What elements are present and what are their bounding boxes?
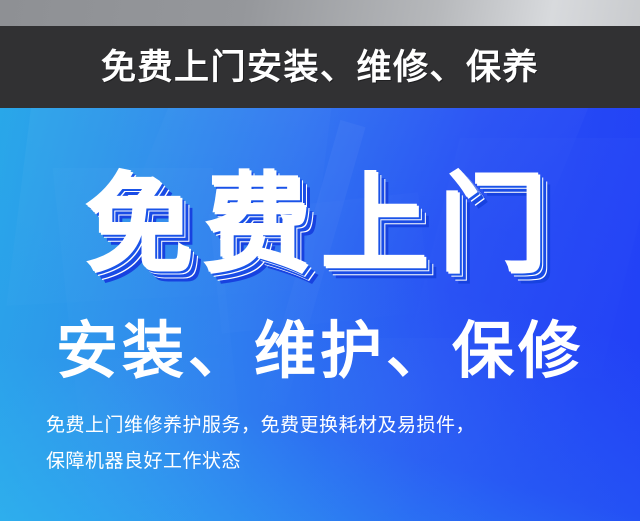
hero-section: 免费上门 安装、维护、保修 免费上门维修养护服务，免费更换耗材及易损件， 保障机…: [0, 108, 640, 521]
promo-banner: 免费上门安装、维修、保养 免费上门 安装、维护、保修 免费上门维修养护服务，免费…: [0, 0, 640, 521]
top-grey-strip: [0, 0, 640, 26]
hero-text-group: 免费上门 安装、维护、保修 免费上门维修养护服务，免费更换耗材及易损件， 保障机…: [0, 108, 640, 521]
hero-headline: 免费上门: [0, 170, 640, 278]
header-title: 免费上门安装、维修、保养: [101, 50, 539, 85]
hero-description-line-1: 免费上门维修养护服务，免费更换耗材及易损件，: [46, 408, 475, 444]
hero-description-line-2: 保障机器良好工作状态: [46, 444, 475, 480]
hero-description: 免费上门维修养护服务，免费更换耗材及易损件， 保障机器良好工作状态: [46, 408, 475, 480]
hero-subheadline: 安装、维护、保修: [0, 321, 640, 383]
header-bar: 免费上门安装、维修、保养: [0, 26, 640, 108]
